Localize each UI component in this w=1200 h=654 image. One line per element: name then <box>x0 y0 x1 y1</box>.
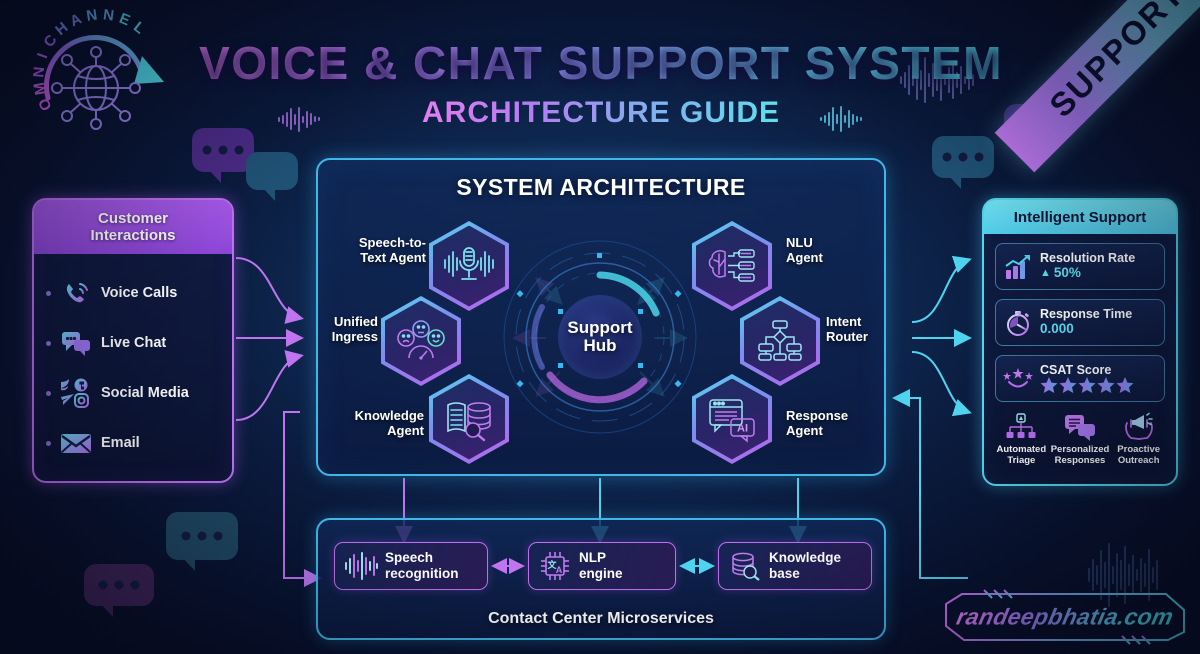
smiley-stars-icon <box>1003 364 1033 394</box>
feature-row: Automated Triage <box>984 402 1176 467</box>
node-label-speech-to-text-agent: Speech-to- Text Agent <box>338 236 426 266</box>
list-item[interactable]: Social Media <box>46 368 224 418</box>
node-label-response-agent: Response Agent <box>786 409 876 439</box>
metric-text: Resolution Rate ▲ 50% <box>1040 252 1135 280</box>
list-item[interactable]: Email <box>46 418 224 468</box>
page-subtitle-row: ARCHITECTURE GUIDE <box>186 96 1016 130</box>
list-item[interactable]: Live Chat <box>46 318 224 368</box>
bullet-dot <box>46 341 51 346</box>
hub-core: Support Hub <box>558 295 642 379</box>
bullet-dot <box>46 391 51 396</box>
customer-interactions-header: Customer Interactions <box>34 200 232 254</box>
architecture-title: SYSTEM ARCHITECTURE <box>318 174 884 201</box>
social-networks-icon <box>59 378 93 408</box>
stopwatch-icon <box>1003 308 1033 338</box>
brand-logo: OMNICHANNEL <box>16 12 186 142</box>
trend-up-icon: ▲ <box>1040 267 1051 279</box>
decor-chat-bubble <box>166 512 238 560</box>
decor-chat-bubble <box>84 564 154 606</box>
feature-label-line2: Outreach <box>1109 456 1168 467</box>
chat-reply-icon <box>1051 411 1110 443</box>
ribbon-label: SUPPORT <box>1042 0 1192 125</box>
node-label-line2: Ingress <box>320 330 378 345</box>
feature-automated-triage[interactable]: Automated Triage <box>992 411 1051 467</box>
metric-label: Response Time <box>1040 308 1132 321</box>
phone-call-icon <box>59 278 93 308</box>
metric-value-row: ▲ 50% <box>1040 266 1135 281</box>
microphone-waveform-icon <box>433 226 505 307</box>
metric-value: 50% <box>1054 266 1081 281</box>
node-label-line2: Agent <box>786 251 866 266</box>
node-label-line1: Intent <box>826 315 898 330</box>
microservices-title: Contact Center Microservices <box>318 610 884 628</box>
node-label-unified-ingress: Unified Ingress <box>320 315 378 345</box>
node-label-line1: Knowledge <box>334 409 424 424</box>
bar-chart-growth-icon <box>1003 252 1033 282</box>
org-chart-icon <box>992 411 1051 443</box>
metric-value: 0.000 <box>1040 322 1132 337</box>
microservices-panel: Speech recognition 文 A <box>316 518 886 640</box>
intelligent-support-header: Intelligent Support <box>984 200 1176 234</box>
brain-flowchart-icon <box>696 226 768 307</box>
feature-label: Proactive Outreach <box>1109 445 1168 467</box>
node-label-line1: Response <box>786 409 876 424</box>
node-label-nlu-agent: NLU Agent <box>786 236 866 266</box>
bullet-dot <box>46 441 51 446</box>
page-title: VOICE & CHAT SUPPORT SYSTEM <box>186 36 1016 90</box>
chat-bubbles-icon <box>59 328 93 358</box>
feature-personalized-responses[interactable]: Personalized Responses <box>1051 411 1110 467</box>
svg-text:AI: AI <box>737 423 748 435</box>
corner-ribbon: SUPPORT <box>995 0 1200 172</box>
node-label-intent-router: Intent Router <box>826 315 898 345</box>
watermark-text: randeepbhatia.com <box>954 604 1176 631</box>
ai-chat-window-icon: AI <box>696 379 768 460</box>
feature-label: Automated Triage <box>992 445 1051 467</box>
metric-response-time[interactable]: Response Time 0.000 <box>995 299 1165 346</box>
node-label-line1: Speech-to- <box>338 236 426 251</box>
watermark-badge: randeepbhatia.com <box>940 588 1190 646</box>
metric-resolution-rate[interactable]: Resolution Rate ▲ 50% <box>995 243 1165 290</box>
node-label-line2: Router <box>826 330 898 345</box>
list-item-label: Social Media <box>101 385 189 401</box>
infographic-canvas: OMNICHANNEL SUPPORT VOICE & CHAT SUPPORT… <box>0 0 1200 654</box>
customer-interactions-list: Voice Calls Live Chat <box>34 254 232 468</box>
envelope-icon <box>59 428 93 458</box>
node-label-knowledge-agent: Knowledge Agent <box>334 409 424 439</box>
page-subtitle: ARCHITECTURE GUIDE <box>422 96 780 130</box>
list-item-label: Live Chat <box>101 335 166 351</box>
logo-wordmark: OMNICHANNEL <box>16 12 186 142</box>
star-rating <box>1040 377 1136 393</box>
node-label-line1: Unified <box>320 315 378 330</box>
book-database-search-icon <box>433 379 505 460</box>
feature-label-line2: Triage <box>992 456 1051 467</box>
hub-label-line1: Support <box>567 319 632 337</box>
metric-label: Resolution Rate <box>1040 252 1135 265</box>
list-item[interactable]: Voice Calls <box>46 268 224 318</box>
metric-text: CSAT Score <box>1040 364 1136 394</box>
node-label-line1: NLU <box>786 236 866 251</box>
list-item-label: Email <box>101 435 140 451</box>
feature-label: Personalized Responses <box>1051 445 1110 467</box>
intelligent-support-panel: Intelligent Support Resolution Rate ▲ 50… <box>982 198 1178 486</box>
hub-label-line2: Hub <box>583 337 616 355</box>
panel-title-line2: Interactions <box>90 227 175 244</box>
panel-title-line1: Customer <box>90 210 175 227</box>
metric-csat-score[interactable]: CSAT Score <box>995 355 1165 402</box>
decor-chat-bubble <box>246 152 298 190</box>
decision-tree-icon <box>744 301 816 382</box>
list-item-label: Voice Calls <box>101 285 177 301</box>
bullet-dot <box>46 291 51 296</box>
decor-chat-bubble <box>192 128 254 172</box>
node-label-line2: Text Agent <box>338 251 426 266</box>
decor-chat-bubble <box>932 136 994 178</box>
metric-text: Response Time 0.000 <box>1040 308 1132 336</box>
node-label-line2: Agent <box>786 424 876 439</box>
customer-interactions-panel: Customer Interactions Voice Calls <box>32 198 234 483</box>
feature-label-line2: Responses <box>1051 456 1110 467</box>
sentiment-faces-gauge-icon <box>385 301 457 382</box>
megaphone-hands-icon <box>1109 411 1168 443</box>
feature-proactive-outreach[interactable]: Proactive Outreach <box>1109 411 1168 467</box>
metric-label: CSAT Score <box>1040 364 1136 377</box>
node-label-line2: Agent <box>334 424 424 439</box>
support-hub[interactable]: Support Hub <box>540 277 660 397</box>
